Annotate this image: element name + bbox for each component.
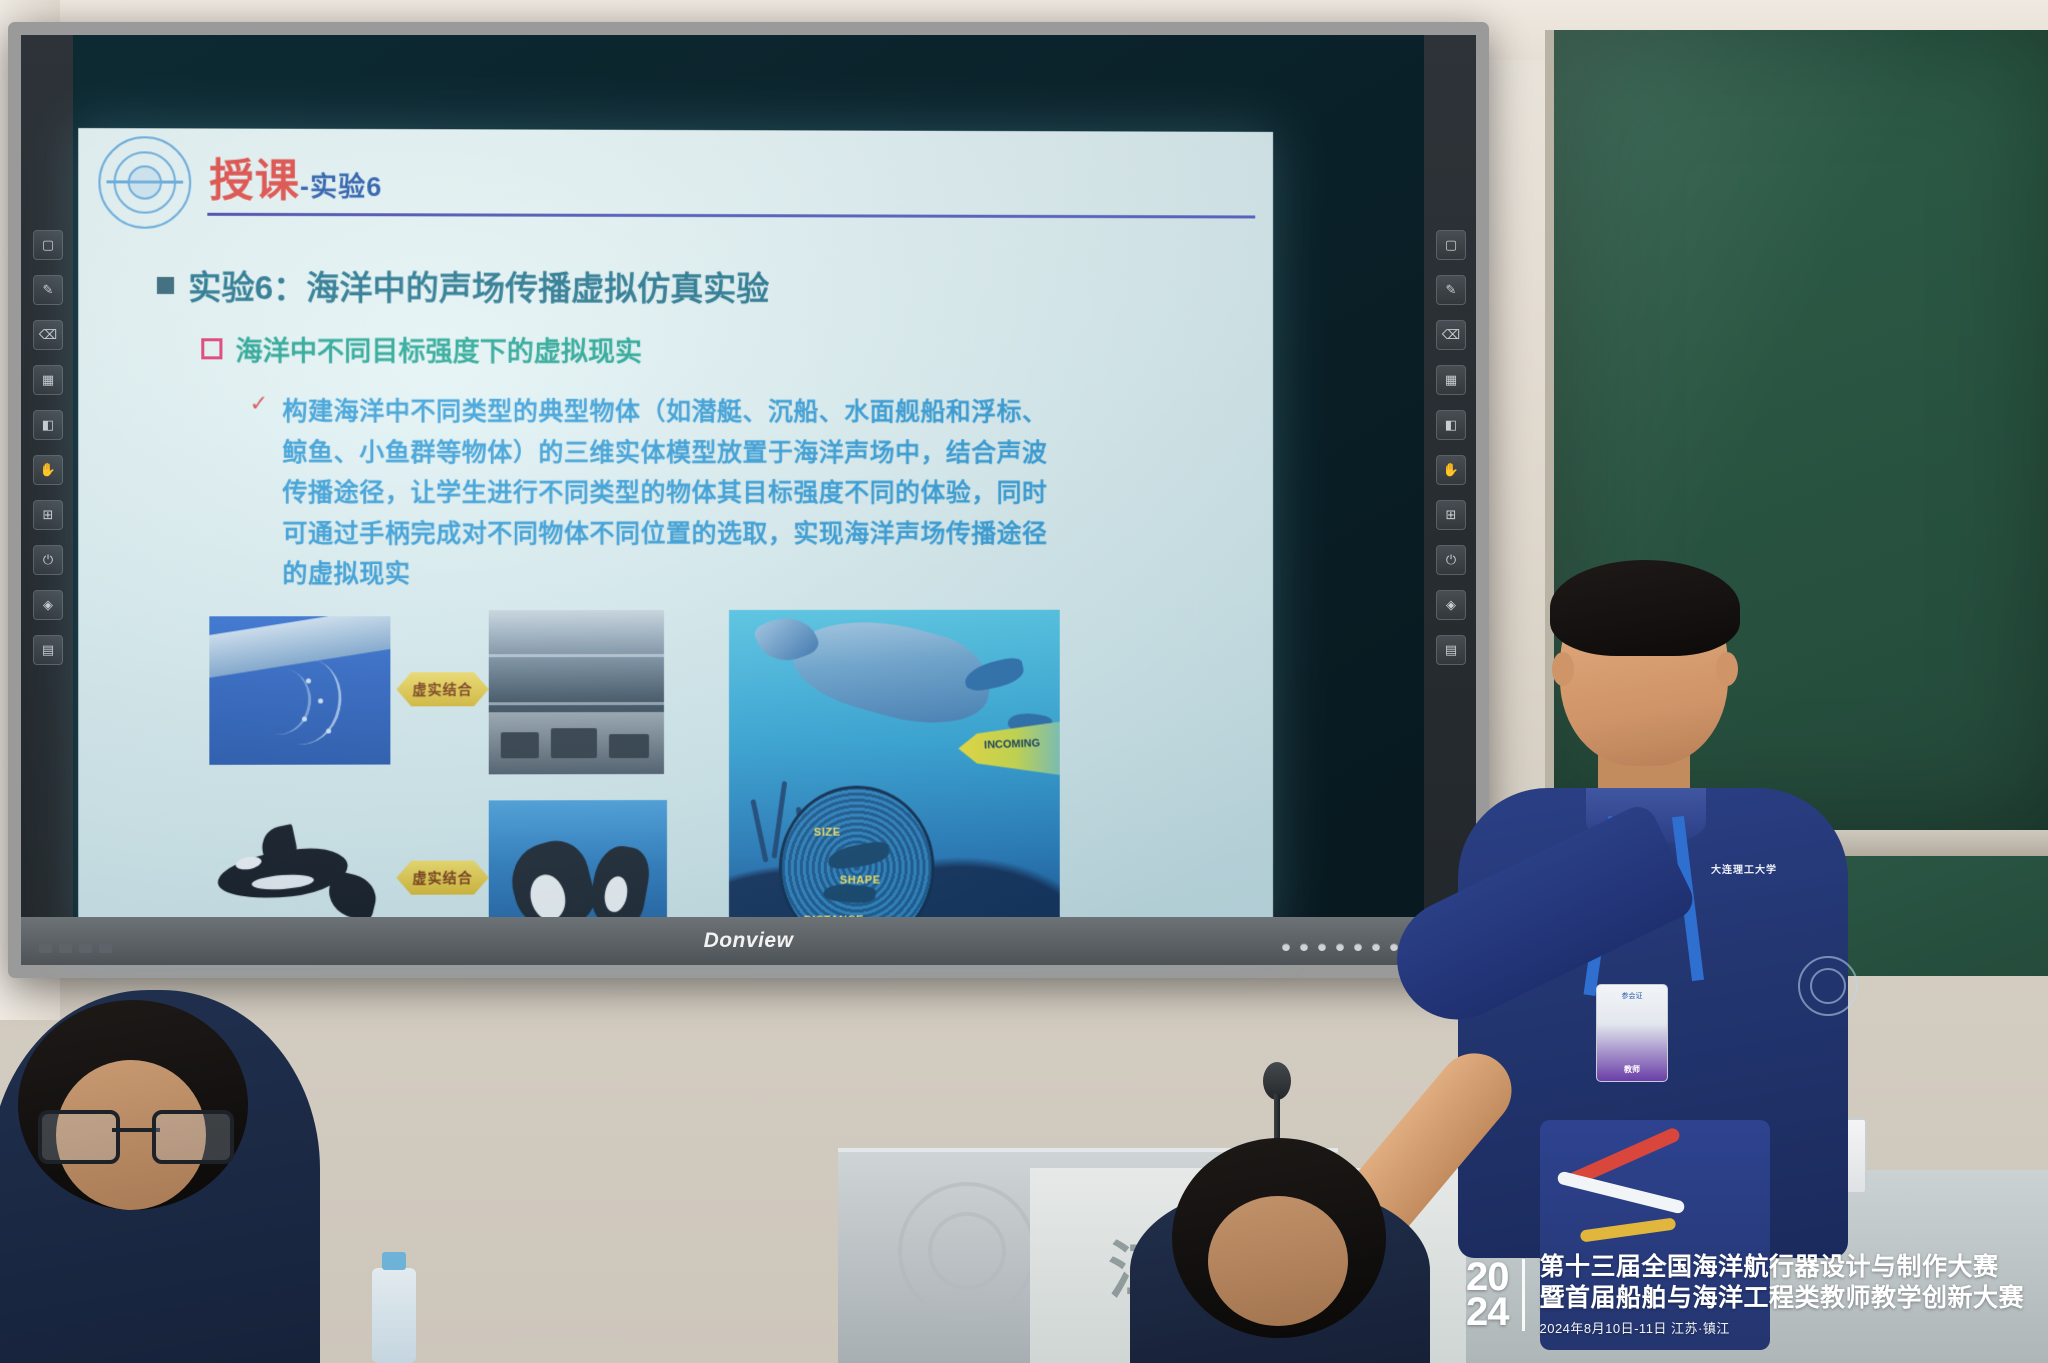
sleeve-emblem-icon <box>1798 956 1858 1016</box>
sonar-dot <box>302 717 307 722</box>
panel-key-icon[interactable]: ▦ <box>33 365 63 395</box>
event-banner-divider <box>1522 1259 1525 1331</box>
panel-key-icon[interactable]: ⊞ <box>1436 500 1466 530</box>
bullet-level1-label: 实验6：海洋中的声场传播虚拟仿真实验 <box>188 261 769 310</box>
panel-screen[interactable]: ▢ ✎ ⌫ ▦ ◧ ✋ ⊞ ⏻ ◈ ▤ ▢ ✎ ⌫ ▦ ◧ ✋ ⊞ ⏻ ◈ <box>21 35 1476 965</box>
apron-stripe <box>1556 1170 1685 1214</box>
title-divider <box>207 213 1255 219</box>
bullet-level2: 海洋中不同目标强度下的虚拟现实 <box>201 329 642 369</box>
sonar-fish <box>827 840 891 871</box>
usb-port[interactable] <box>59 944 72 953</box>
bullet-level2-label: 海洋中不同目标强度下的虚拟现实 <box>236 329 642 369</box>
glasses-lens <box>38 1110 120 1164</box>
shirt-chest-logo: 大连理工大学 <box>1698 860 1790 918</box>
presenter: 大连理工大学 参会证 教师 <box>1400 560 1920 1363</box>
square-bullet-icon <box>157 276 174 293</box>
logo-bar <box>106 180 183 183</box>
audience-left-glasses-icon <box>38 1110 234 1156</box>
tank-edge <box>489 702 664 705</box>
name-badge: 参会证 教师 <box>1596 984 1668 1082</box>
panel-key-icon[interactable]: ▢ <box>1436 230 1466 260</box>
sonar-dot <box>318 698 323 703</box>
bottle-cap <box>382 1252 406 1270</box>
dolphin-echolocation-illustration: SIZE SHAPE DISTANCE INCOMING <box>729 610 1060 942</box>
vr-combination-arrow-bottom: 虚实结合 <box>396 860 488 894</box>
slide-title-main: 授课 <box>209 157 300 206</box>
paragraph-line: 鲸鱼、小鱼群等物体）的三维实体模型放置于海洋声场中，结合声波 <box>282 432 1047 473</box>
usb-port[interactable] <box>39 944 52 953</box>
sonar-dot <box>306 678 311 683</box>
event-title-line1: 第十三届全国海洋航行器设计与制作大赛 <box>1539 1252 2024 1283</box>
sonar-dot <box>326 729 331 734</box>
incoming-sound-beam: INCOMING <box>958 721 1059 775</box>
panel-key-icon[interactable]: ✋ <box>1436 455 1466 485</box>
slide-title-sub: -实验6 <box>300 172 382 202</box>
interactive-display-panel[interactable]: ▢ ✎ ⌫ ▦ ◧ ✋ ⊞ ⏻ ◈ ▤ ▢ ✎ ⌫ ▦ ◧ ✋ ⊞ ⏻ ◈ <box>8 22 1489 978</box>
sonar-label-size: SIZE <box>814 827 841 839</box>
panel-key-icon[interactable]: ⌫ <box>33 320 63 350</box>
panel-key-icon[interactable]: ▤ <box>33 635 63 665</box>
equipment-box <box>609 734 649 758</box>
event-title-line2: 暨首届船舶与海洋工程类教师教学创新大赛 <box>1539 1283 2024 1314</box>
panel-key-icon[interactable]: ✎ <box>33 275 63 305</box>
panel-left-key-strip[interactable]: ▢ ✎ ⌫ ▦ ◧ ✋ ⊞ ⏻ ◈ ▤ <box>21 35 73 965</box>
presentation-slide: 授课-实验6 实验6：海洋中的声场传播虚拟仿真实验 海洋中不同目标强度下的虚拟现… <box>78 128 1273 942</box>
slide-title: 授课-实验6 <box>209 145 382 210</box>
apron-stripe <box>1580 1217 1677 1242</box>
presenter-hair <box>1550 560 1740 656</box>
orca-tail <box>324 870 379 922</box>
classroom-photo-scene: 科达文教 ▢ ✎ ⌫ ▦ ◧ ✋ ⊞ ⏻ ◈ ▤ ▢ ✎ ⌫ ▦ ◧ <box>0 0 2048 1363</box>
bullet-level1: 实验6：海洋中的声场传播虚拟仿真实验 <box>157 261 769 310</box>
event-watermark-banner: 20 24 第十三届全国海洋航行器设计与制作大赛 暨首届船舶与海洋工程类教师教学… <box>1466 1252 2024 1337</box>
panel-key-icon[interactable]: ✎ <box>1436 275 1466 305</box>
panel-key-icon[interactable]: ◧ <box>33 410 63 440</box>
paragraph-line: 构建海洋中不同类型的典型物体（如潜艇、沉船、水面舰船和浮标、 <box>282 392 1047 433</box>
event-year-bottom: 24 <box>1466 1295 1509 1329</box>
panel-key-icon[interactable]: ◈ <box>33 590 63 620</box>
panel-key-icon[interactable]: ✋ <box>33 455 63 485</box>
grille-dot <box>1354 943 1362 951</box>
lab-equipment-photo <box>489 712 664 774</box>
glasses-lens <box>152 1110 234 1164</box>
tank-edge <box>489 654 664 657</box>
panel-key-icon[interactable]: ◧ <box>1436 410 1466 440</box>
panel-key-icon[interactable]: ⌫ <box>1436 320 1466 350</box>
slide-image-gallery: SIZE SHAPE DISTANCE INCOMING 虚实结合 虚实结合 <box>199 610 1257 934</box>
beam-label: INCOMING <box>984 737 1040 751</box>
submarine-sonar-image <box>209 616 390 765</box>
paragraph-line: 传播途径，让学生进行不同类型的物体其目标强度不同的体验，同时 <box>282 473 1047 514</box>
grille-dot <box>1336 943 1344 951</box>
grille-dot <box>1282 943 1290 951</box>
grille-dot <box>1300 943 1308 951</box>
hdmi-port[interactable] <box>99 944 112 953</box>
panel-speaker-grille <box>1282 943 1416 951</box>
panel-key-icon[interactable]: ⊞ <box>33 500 63 530</box>
panel-key-icon[interactable]: ⏻ <box>33 545 63 575</box>
grille-dot <box>1318 943 1326 951</box>
slide-header: 授课-实验6 <box>78 128 1273 231</box>
shirt-logo-text: 大连理工大学 <box>1711 865 1777 876</box>
presenter-ear <box>1716 652 1738 686</box>
usb-port[interactable] <box>79 944 92 953</box>
event-banner-text: 第十三届全国海洋航行器设计与制作大赛 暨首届船舶与海洋工程类教师教学创新大赛 2… <box>1539 1252 2024 1337</box>
panel-brand-bar: Donview <box>21 917 1476 965</box>
panel-key-icon[interactable]: ▦ <box>1436 365 1466 395</box>
display-brand-label: Donview <box>704 929 794 953</box>
paragraph-text: 构建海洋中不同类型的典型物体（如潜艇、沉船、水面舰船和浮标、 鲸鱼、小鱼群等物体… <box>282 392 1047 595</box>
grille-dot <box>1372 943 1380 951</box>
equipment-box <box>551 728 597 758</box>
vr-combination-arrow-top: 虚实结合 <box>396 672 488 706</box>
lectern-emblem-icon <box>898 1182 1036 1320</box>
university-logo-icon <box>98 136 191 229</box>
panel-key-icon[interactable]: ▢ <box>33 230 63 260</box>
event-year: 20 24 <box>1466 1260 1509 1329</box>
badge-top-text: 参会证 <box>1597 991 1667 1001</box>
paragraph-line: 可通过手柄完成对不同物体不同位置的选取，实现海洋声场传播途径 <box>282 513 1047 554</box>
presenter-ear <box>1552 652 1574 686</box>
sonar-label-shape: SHAPE <box>840 874 881 886</box>
hollow-square-bullet-icon <box>201 338 222 359</box>
water-bottle <box>372 1268 416 1363</box>
equipment-box <box>501 732 539 758</box>
event-date-location: 2024年8月10日-11日 江苏·镇江 <box>1539 1318 2024 1337</box>
paragraph-line: 的虚拟现实 <box>282 554 1047 595</box>
body-paragraph: ✓ 构建海洋中不同类型的典型物体（如潜艇、沉船、水面舰船和浮标、 鲸鱼、小鱼群等… <box>250 392 1234 595</box>
check-bullet-icon: ✓ <box>250 392 269 595</box>
panel-io-ports[interactable] <box>39 944 112 953</box>
badge-bottom-text: 教师 <box>1597 1064 1667 1075</box>
audience-center-face <box>1208 1196 1348 1326</box>
